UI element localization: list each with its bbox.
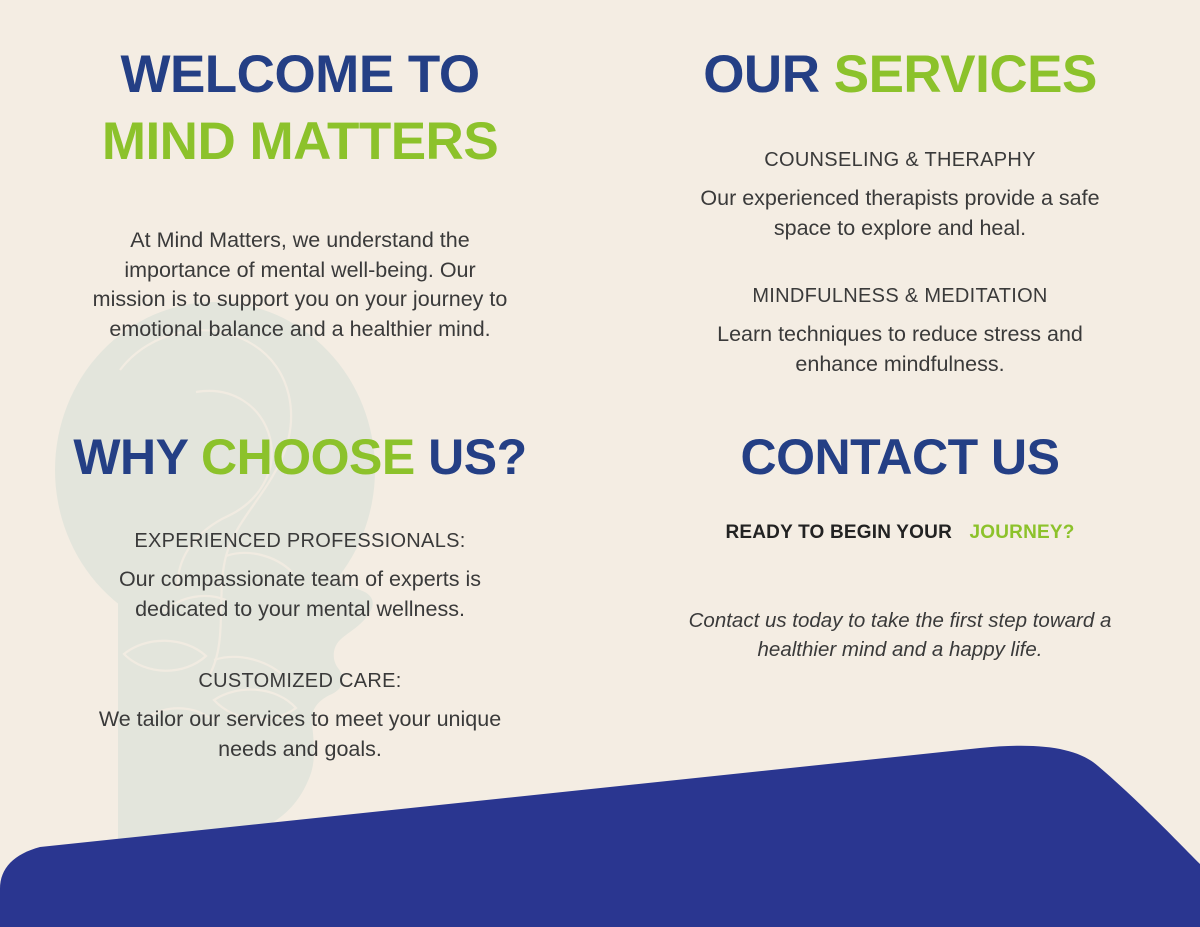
why-choose-heading-part2: CHOOSE bbox=[201, 429, 415, 485]
why-choose-label: CUSTOMIZED CARE: bbox=[0, 670, 600, 693]
why-choose-heading: WHY CHOOSE US? bbox=[0, 420, 600, 482]
service-label: COUNSELING & THERAPHY bbox=[600, 149, 1200, 172]
welcome-heading-line2: MIND MATTERS bbox=[0, 115, 600, 168]
service-item: MINDFULNESS & MEDITATION Learn technique… bbox=[600, 285, 1200, 379]
contact-closing: Contact us today to take the first step … bbox=[665, 606, 1135, 664]
services-heading-part2: SERVICES bbox=[834, 45, 1097, 104]
services-section: OUR SERVICES COUNSELING & THERAPHY Our e… bbox=[600, 0, 1200, 420]
why-choose-section: WHY CHOOSE US? EXPERIENCED PROFESSIONALS… bbox=[0, 420, 600, 927]
why-choose-item: CUSTOMIZED CARE: We tailor our services … bbox=[0, 670, 600, 764]
service-item: COUNSELING & THERAPHY Our experienced th… bbox=[600, 149, 1200, 243]
welcome-heading-line1: WELCOME TO bbox=[120, 45, 479, 104]
services-heading: OUR SERVICES bbox=[600, 0, 1200, 101]
why-choose-heading-part3: US? bbox=[428, 429, 527, 485]
contact-tagline: READY TO BEGIN YOUR JOURNEY? bbox=[600, 522, 1200, 544]
contact-tagline-part2: JOURNEY? bbox=[970, 522, 1075, 543]
contact-heading: CONTACT US bbox=[600, 420, 1200, 482]
services-heading-part1: OUR bbox=[703, 45, 819, 104]
welcome-heading: WELCOME TO MIND MATTERS bbox=[0, 0, 600, 168]
welcome-body: At Mind Matters, we understand the impor… bbox=[85, 226, 515, 345]
why-choose-label: EXPERIENCED PROFESSIONALS: bbox=[0, 530, 600, 553]
service-body: Learn techniques to reduce stress and en… bbox=[690, 320, 1110, 379]
welcome-section: WELCOME TO MIND MATTERS At Mind Matters,… bbox=[0, 0, 600, 420]
why-choose-item: EXPERIENCED PROFESSIONALS: Our compassio… bbox=[0, 530, 600, 624]
why-choose-body: Our compassionate team of experts is ded… bbox=[75, 565, 525, 624]
why-choose-heading-part1: WHY bbox=[73, 429, 187, 485]
brochure-poster: WELCOME TO MIND MATTERS At Mind Matters,… bbox=[0, 0, 1200, 927]
service-label: MINDFULNESS & MEDITATION bbox=[600, 285, 1200, 308]
contact-section: CONTACT US READY TO BEGIN YOUR JOURNEY? … bbox=[600, 420, 1200, 927]
why-choose-body: We tailor our services to meet your uniq… bbox=[75, 705, 525, 764]
contact-tagline-part1: READY TO BEGIN YOUR bbox=[725, 522, 952, 543]
service-body: Our experienced therapists provide a saf… bbox=[690, 184, 1110, 243]
